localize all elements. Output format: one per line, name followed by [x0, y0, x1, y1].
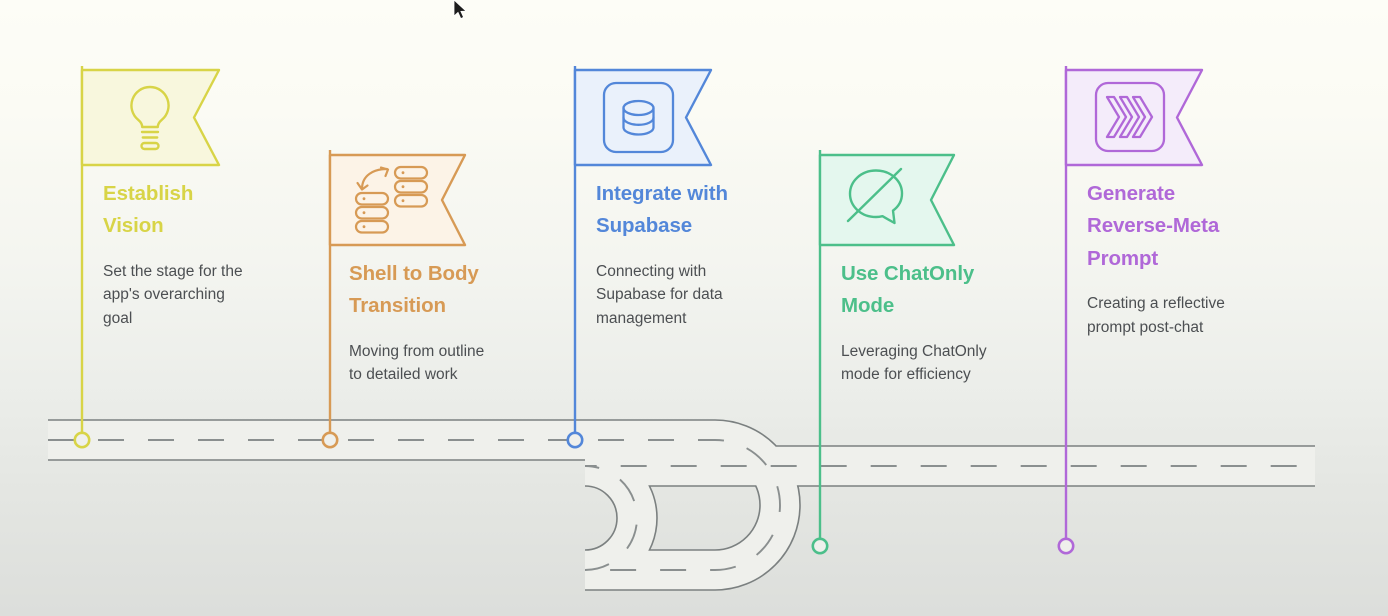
- flag-2: [330, 155, 465, 245]
- milestone-1-title: Establish Vision: [103, 178, 303, 243]
- milestone-1-text: Establish Vision Set the stage for the a…: [103, 178, 303, 330]
- milestone-3-text: Integrate with Supabase Connecting with …: [596, 178, 796, 330]
- roadmap-canvas: Establish Vision Set the stage for the a…: [0, 0, 1388, 616]
- milestone-3-description: Connecting with Supabase for data manage…: [596, 260, 796, 331]
- milestone-4-text: Use ChatOnly Mode Leveraging ChatOnly mo…: [841, 258, 1046, 387]
- milestone-5-description: Creating a reflective prompt post-chat: [1087, 292, 1302, 339]
- flag-1: [82, 70, 219, 165]
- milestone-2-title: Shell to Body Transition: [349, 258, 554, 323]
- flag-4: [820, 155, 954, 245]
- flag-5: [1066, 70, 1202, 165]
- milestone-1-description: Set the stage for the app's overarching …: [103, 260, 303, 331]
- milestone-5-title: Generate Reverse-Meta Prompt: [1087, 178, 1302, 275]
- milestone-2-text: Shell to Body Transition Moving from out…: [349, 258, 554, 387]
- milestone-4-description: Leveraging ChatOnly mode for efficiency: [841, 340, 1046, 387]
- milestone-2-description: Moving from outline to detailed work: [349, 340, 554, 387]
- milestone-4-title: Use ChatOnly Mode: [841, 258, 1046, 323]
- milestone-5-text: Generate Reverse-Meta Prompt Creating a …: [1087, 178, 1302, 339]
- milestone-3-title: Integrate with Supabase: [596, 178, 796, 243]
- flag-3: [575, 70, 711, 165]
